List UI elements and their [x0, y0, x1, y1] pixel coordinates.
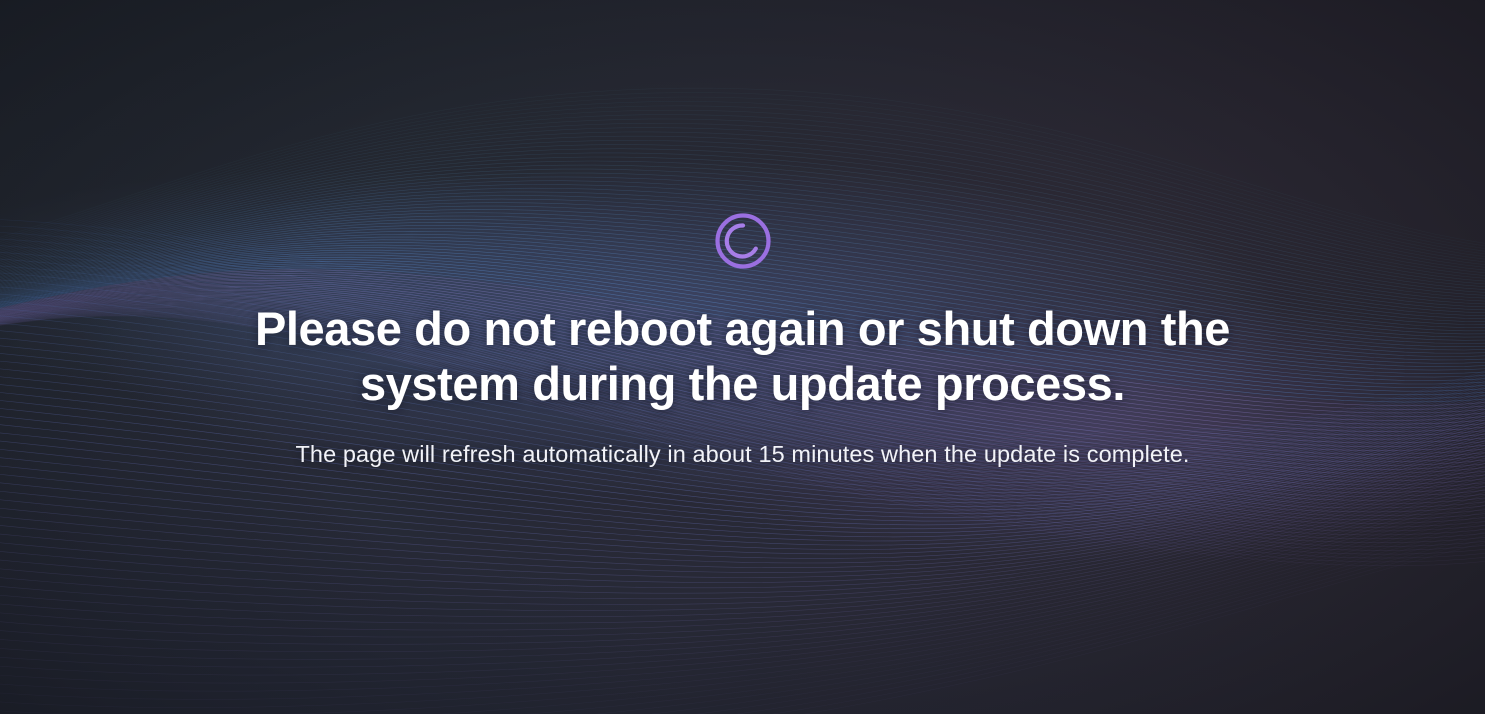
refresh-notice: The page will refresh automatically in a… [295, 438, 1189, 470]
loading-spinner [714, 212, 772, 270]
update-in-progress-screen: Please do not reboot again or shut down … [0, 0, 1485, 714]
page-title: Please do not reboot again or shut down … [220, 302, 1265, 412]
loading-spinner-icon [714, 212, 772, 270]
update-message-container: Please do not reboot again or shut down … [0, 0, 1485, 714]
